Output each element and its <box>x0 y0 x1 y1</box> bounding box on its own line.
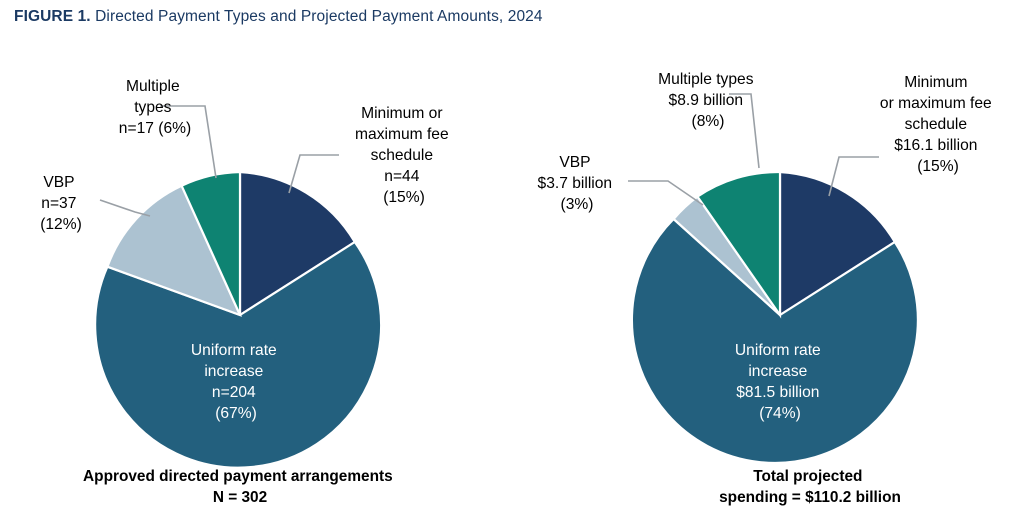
figure-container: FIGURE 1. Directed Payment Types and Pro… <box>0 0 1014 532</box>
callout-vbp: VBP n=37 (12%) <box>40 174 82 233</box>
callout-multiple-types: Multiple types $8.9 billion (8%) <box>658 71 758 130</box>
chart-caption-projected-spending: Total projected spending = $110.2 billio… <box>719 468 901 506</box>
figure-label: FIGURE 1. <box>14 8 91 25</box>
figure-title: FIGURE 1. Directed Payment Types and Pro… <box>14 8 543 26</box>
callout-fee-schedule: Minimum or maximum fee schedule n=44 (15… <box>355 105 453 206</box>
callout-vbp: VBP $3.7 billion (3%) <box>538 154 617 213</box>
leader-line-vbp <box>100 200 150 216</box>
chart-caption-approved-arrangements: Approved directed payment arrangements N… <box>83 468 397 506</box>
pie-chart-projected-spending: Multiple types $8.9 billion (8%) VBP $3.… <box>507 44 1014 532</box>
charts-area: Multiple types n=17 (6%) VBP n=37 (12%) … <box>0 44 1014 532</box>
callout-fee-schedule: Minimum or maximum fee schedule $16.1 bi… <box>880 74 996 175</box>
page-title: Directed Payment Types and Projected Pay… <box>91 8 543 25</box>
leader-line-multiple-types <box>160 106 216 178</box>
callout-multiple-types: Multiple types n=17 (6%) <box>119 78 191 137</box>
pie-chart-approved-arrangements: Multiple types n=17 (6%) VBP n=37 (12%) … <box>0 44 507 532</box>
